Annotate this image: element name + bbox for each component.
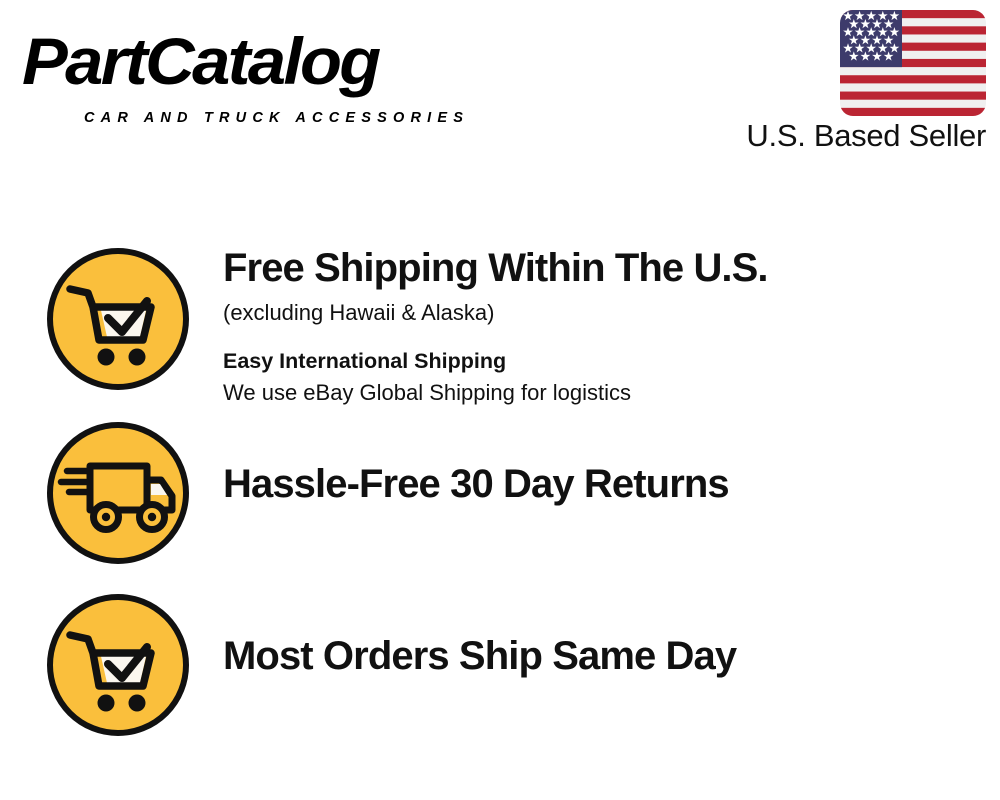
brand-logo: PartCatalog CAR AND TRUCK ACCESSORIES bbox=[22, 22, 492, 117]
delivery-truck-icon bbox=[43, 418, 193, 568]
feature-sub-heading: Easy International Shipping bbox=[223, 346, 963, 376]
promotional-banner: PartCatalog CAR AND TRUCK ACCESSORIES bbox=[0, 0, 1000, 800]
us-based-seller-label: U.S. Based Seller bbox=[746, 118, 986, 154]
brand-wordmark: PartCatalog bbox=[22, 22, 379, 100]
feature-list: Free Shipping Within The U.S. (excluding… bbox=[0, 230, 1000, 760]
banner-header: PartCatalog CAR AND TRUCK ACCESSORIES bbox=[0, 0, 1000, 170]
feature-text-block: Hassle-Free 30 Day Returns bbox=[223, 418, 963, 508]
feature-text-block: Most Orders Ship Same Day bbox=[223, 590, 963, 680]
us-flag-icon bbox=[840, 10, 986, 116]
brand-tagline: CAR AND TRUCK ACCESSORIES bbox=[84, 110, 469, 126]
feature-heading: Most Orders Ship Same Day bbox=[223, 632, 963, 680]
feature-note: (excluding Hawaii & Alaska) bbox=[223, 298, 963, 328]
shopping-cart-check-icon bbox=[43, 590, 193, 740]
shopping-cart-check-icon bbox=[43, 244, 193, 394]
feature-heading: Hassle-Free 30 Day Returns bbox=[223, 460, 963, 508]
feature-heading: Free Shipping Within The U.S. bbox=[223, 244, 963, 292]
feature-sub-note: We use eBay Global Shipping for logistic… bbox=[223, 378, 963, 408]
feature-text-block: Free Shipping Within The U.S. (excluding… bbox=[223, 244, 963, 408]
